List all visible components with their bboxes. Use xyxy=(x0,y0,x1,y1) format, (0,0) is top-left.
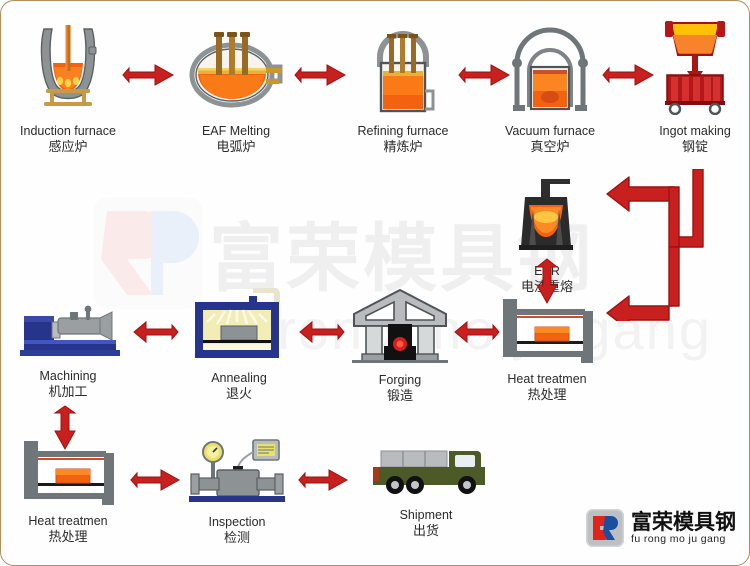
step-label-cn: 机加工 xyxy=(11,384,125,401)
refining-furnace-icon xyxy=(344,23,462,120)
step-label-en: Shipment xyxy=(351,507,501,523)
step-heat-treatment-1[interactable]: Heat treatmen 热处理 xyxy=(490,297,604,404)
step-label-en: Heat treatmen xyxy=(490,371,604,387)
step-label-cn: 真空炉 xyxy=(491,139,609,156)
heat-treatment-furnace-icon xyxy=(11,439,125,510)
arrow-heat-treatment-to-forging xyxy=(453,318,501,351)
annealing-furnace-icon xyxy=(184,288,294,367)
arrow-induction-to-eaf xyxy=(121,61,177,94)
step-label-en: EAF Melting xyxy=(177,123,295,139)
induction-furnace-icon xyxy=(7,23,129,120)
step-eaf-melting[interactable]: EAF Melting 电弧炉 xyxy=(177,23,295,156)
arrow-ingot-branch-to-esr-and-heat-treatment xyxy=(601,169,721,326)
company-logo[interactable]: 富荣模具钢 fu rong mo ju gang xyxy=(586,509,736,547)
step-label-en: Inspection xyxy=(181,514,293,530)
step-label-cn: 热处理 xyxy=(11,529,125,546)
step-induction-furnace[interactable]: Induction furnace 感应炉 xyxy=(7,23,129,156)
lathe-icon xyxy=(11,296,125,365)
inspection-gauge-icon xyxy=(181,436,293,511)
step-shipment[interactable]: Shipment 出货 xyxy=(351,439,501,540)
step-refining-furnace[interactable]: Refining furnace 精炼炉 xyxy=(344,23,462,156)
esr-furnace-icon xyxy=(501,179,593,260)
arrow-annealing-to-machining xyxy=(132,318,180,351)
step-label-en: Induction furnace xyxy=(7,123,129,139)
step-annealing[interactable]: Annealing 退火 xyxy=(184,288,294,403)
step-inspection[interactable]: Inspection 检测 xyxy=(181,436,293,547)
step-label-cn: 感应炉 xyxy=(7,139,129,156)
step-vacuum-furnace[interactable]: Vacuum furnace 真空炉 xyxy=(491,23,609,156)
brand-name-chinese: 富荣模具钢 xyxy=(631,511,736,533)
step-label-en: Forging xyxy=(341,372,459,388)
step-label-en: Heat treatmen xyxy=(11,513,125,529)
fr-logo-mark-icon xyxy=(586,509,624,547)
step-label-cn: 钢锭 xyxy=(641,139,749,156)
step-label-en: Machining xyxy=(11,368,125,384)
step-label-cn: 退火 xyxy=(184,386,294,403)
step-label-cn: 热处理 xyxy=(490,387,604,404)
truck-icon xyxy=(351,439,501,504)
brand-name-pinyin: fu rong mo ju gang xyxy=(631,533,736,546)
step-heat-treatment-2[interactable]: Heat treatmen 热处理 xyxy=(11,439,125,546)
step-label-cn: 精炼炉 xyxy=(344,139,462,156)
step-label-cn: 出货 xyxy=(351,523,501,540)
arrow-forging-to-annealing xyxy=(298,318,346,351)
ingot-mould-cart-icon xyxy=(641,15,749,120)
step-label-cn: 检测 xyxy=(181,530,293,547)
process-flow-diagram: 富荣模具钢 fu rong mo ju gang Induction furna… xyxy=(0,0,750,566)
step-label-en: Refining furnace xyxy=(344,123,462,139)
arrow-inspection-to-shipment xyxy=(297,466,349,499)
step-ingot-making[interactable]: Ingot making 钢锭 xyxy=(641,15,749,156)
arrow-eaf-to-refining xyxy=(293,61,349,94)
eaf-furnace-icon xyxy=(177,23,295,120)
heat-treatment-furnace-icon xyxy=(490,297,604,368)
step-label-cn: 锻造 xyxy=(341,388,459,405)
arrow-heat-treatment-2-to-inspection xyxy=(129,466,181,499)
vacuum-furnace-icon xyxy=(491,23,609,120)
step-label-cn: 电弧炉 xyxy=(177,139,295,156)
forging-press-icon xyxy=(341,286,459,369)
step-label-en: Ingot making xyxy=(641,123,749,139)
step-forging[interactable]: Forging 锻造 xyxy=(341,286,459,405)
step-label-en: Vacuum furnace xyxy=(491,123,609,139)
step-label-en: Annealing xyxy=(184,370,294,386)
step-machining[interactable]: Machining 机加工 xyxy=(11,296,125,401)
